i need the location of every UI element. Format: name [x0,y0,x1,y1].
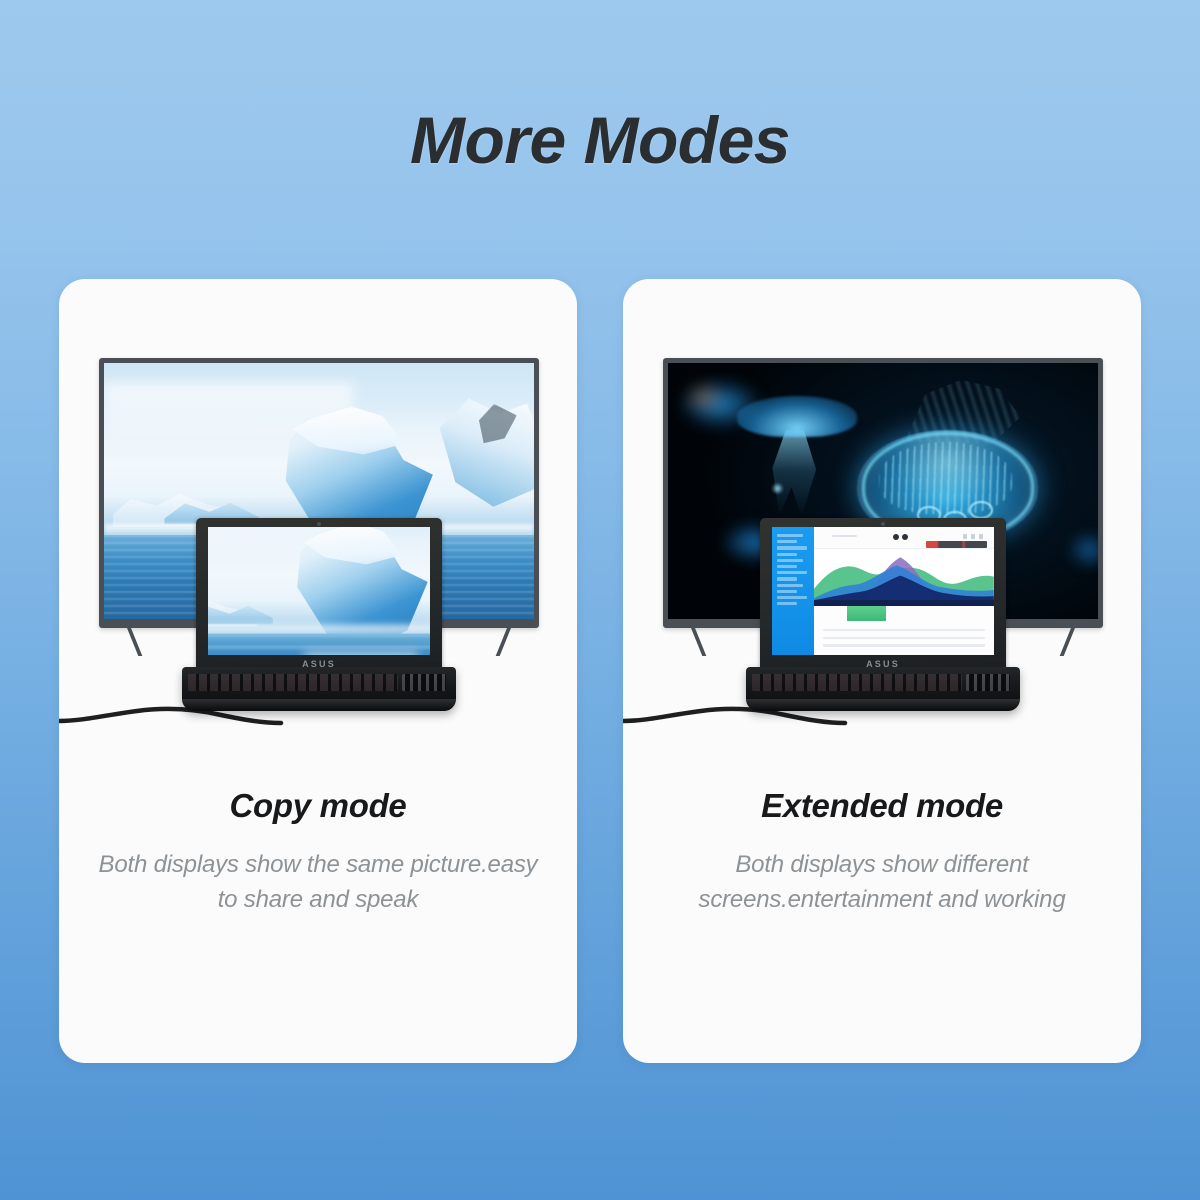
jellyfish-bokeh-right [1068,532,1098,568]
tv-leg-left [691,628,706,656]
laptop-keyboard-base [746,667,1020,711]
sidebar-menu-item[interactable] [777,540,797,543]
sidebar-menu-item[interactable] [777,584,803,587]
extended-mode-text: Extended mode Both displays show differe… [623,787,1141,917]
dashboard-sidebar[interactable] [772,527,814,655]
mode-title: Copy mode [93,787,543,825]
laptop-front-lip [182,699,456,711]
area-chart-svg [814,549,994,600]
sidebar-menu-item[interactable] [777,534,803,537]
laptop-keyboard-base [182,667,456,711]
iceberg-artwork-mirror [208,527,430,655]
iceberg-right-mass-mirror [426,527,430,618]
sidebar-menu-item[interactable] [777,571,807,574]
laptop-mirrored-artwork [208,527,430,655]
dashboard-table [814,606,994,655]
dashboard-nav-label[interactable] [832,535,857,538]
jellyfish-organ-3 [969,501,993,519]
jellyfish-small-bell [737,396,857,437]
header-icon[interactable] [963,534,967,539]
dashboard-area-chart [814,549,994,600]
mode-card-extended[interactable]: ASUS Extended mode Both displays show di… [623,279,1141,1063]
sidebar-menu-item[interactable] [777,565,797,568]
sidebar-menu-item[interactable] [777,553,797,556]
page-title: More Modes [0,102,1200,178]
iceberg-right-mass [431,394,534,517]
header-icon[interactable] [979,534,983,539]
sidebar-menu-item[interactable] [777,546,807,549]
jellyfish-small-particle [771,483,784,493]
webcam-dot-icon [881,522,885,526]
webcam-dot-icon [317,522,321,526]
laptop-lid: ASUS [760,518,1006,673]
mode-cards-container: ASUS Copy mode Both displays show the sa… [0,279,1200,1069]
laptop-icon: ASUS [182,518,456,711]
sidebar-menu-item[interactable] [777,590,797,593]
sidebar-menu-item[interactable] [777,577,797,580]
iceberg-ocean-mirror [208,633,430,655]
mode-card-copy[interactable]: ASUS Copy mode Both displays show the sa… [59,279,577,1063]
dashboard-header-icons[interactable] [963,534,983,539]
table-row[interactable] [823,629,985,631]
extended-mode-scene: ASUS [623,279,1141,779]
sidebar-menu-item[interactable] [777,596,807,599]
sidebar-menu-item[interactable] [777,602,797,605]
header-icon[interactable] [971,534,975,539]
laptop-screen-dashboard [772,527,994,655]
laptop-front-lip [746,699,1020,711]
jellyfish-small-tentacles [767,430,823,517]
copy-mode-scene: ASUS [59,279,577,779]
dashboard-main [814,527,994,655]
jellyfish-bokeh-orange [685,383,724,411]
laptop-lid: ASUS [196,518,442,673]
mode-description: Both displays show different screens.ent… [657,848,1107,917]
table-row[interactable] [823,644,985,646]
dashboard-tab-dots[interactable] [893,534,908,540]
copy-mode-text: Copy mode Both displays show the same pi… [59,787,577,917]
iceberg-mid-left-2-mirror [208,600,273,624]
tv-leg-left [127,628,142,656]
tab-dot[interactable] [902,534,908,540]
mode-title: Extended mode [657,787,1107,825]
iceberg-reflection-mirror [304,653,419,655]
dashboard-header [814,527,994,549]
tv-leg-right [496,628,511,656]
dashboard-green-bar [847,606,887,621]
sidebar-menu-item[interactable] [777,559,803,562]
tv-leg-right [1060,628,1075,656]
mode-description: Both displays show the same picture.easy… [93,848,543,917]
laptop-screen-iceberg [208,527,430,655]
jellyfish-large-bell-ribs [879,442,1012,514]
tab-dot[interactable] [893,534,899,540]
laptop-icon: ASUS [746,518,1020,711]
table-row[interactable] [823,637,985,639]
dashboard-status-badge [926,541,987,548]
analytics-dashboard [772,527,994,655]
